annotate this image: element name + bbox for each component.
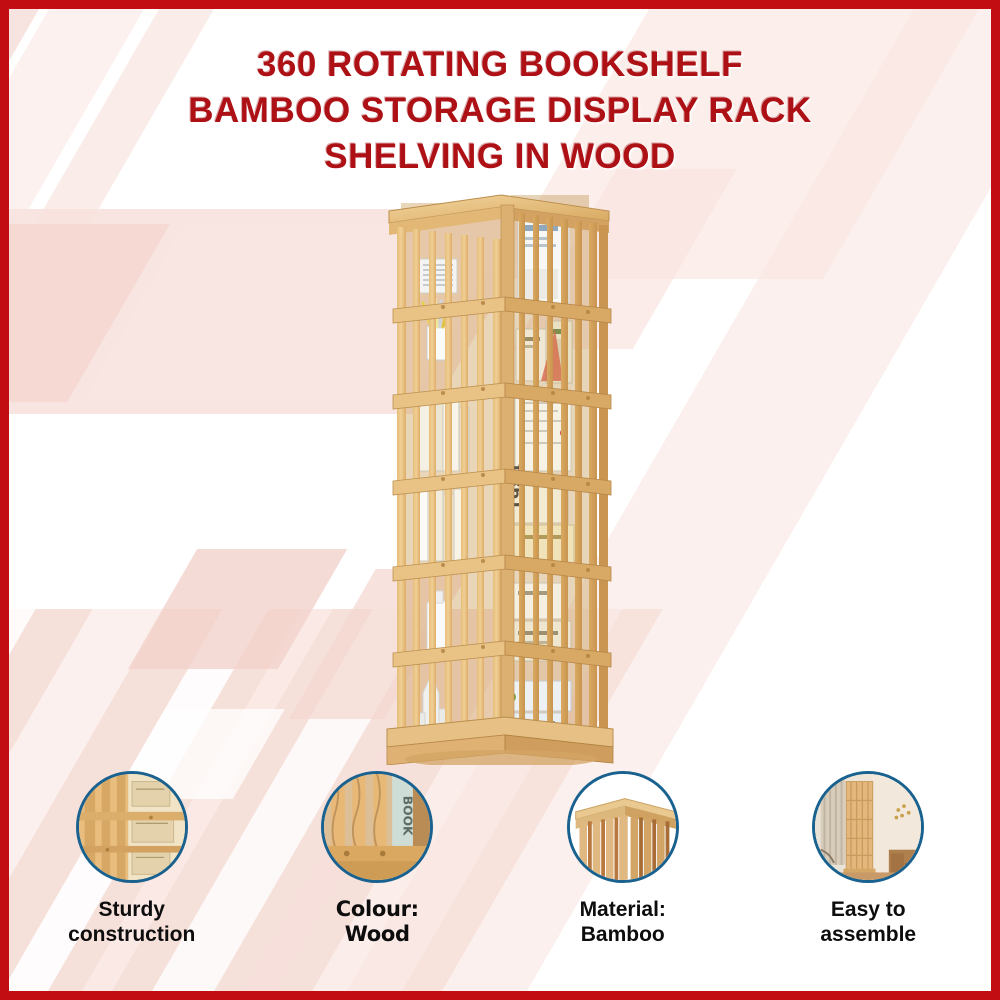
- feature-label-sturdy-construction: Sturdy construction: [68, 897, 195, 947]
- feature-label-easy-to-assemble: Easy to assemble: [820, 897, 916, 947]
- feature-label-colour-wood: Colour: Wood: [336, 897, 419, 947]
- product-poster: 360 ROTATING BOOKSHELF BAMBOO STORAGE DI…: [0, 0, 1000, 1000]
- colour-wood-icon: BOOK: [324, 774, 430, 880]
- svg-text:BOOK: BOOK: [401, 796, 415, 836]
- material-bamboo-icon: [570, 774, 676, 880]
- feature-sturdy-construction[interactable]: Sturdy construction: [32, 771, 232, 947]
- easy-to-assemble-icon: [815, 774, 921, 880]
- sturdy-construction-icon: [79, 774, 185, 880]
- feature-easy-to-assemble[interactable]: Easy to assemble: [768, 771, 968, 947]
- feature-list: Sturdy construction: [9, 771, 991, 991]
- feature-colour-wood[interactable]: BOOK Colour: Wood: [277, 771, 477, 947]
- sturdy-construction-photo-circle: [76, 771, 188, 883]
- feature-material-bamboo[interactable]: Material: Bamboo: [523, 771, 723, 947]
- hero-product-image: 1984: [383, 181, 615, 765]
- feature-label-material-bamboo: Material: Bamboo: [580, 897, 666, 947]
- bookshelf-illustration: 1984: [383, 181, 615, 765]
- colour-wood-photo-circle: BOOK: [321, 771, 433, 883]
- material-bamboo-photo-circle: [567, 771, 679, 883]
- easy-to-assemble-photo-circle: [812, 771, 924, 883]
